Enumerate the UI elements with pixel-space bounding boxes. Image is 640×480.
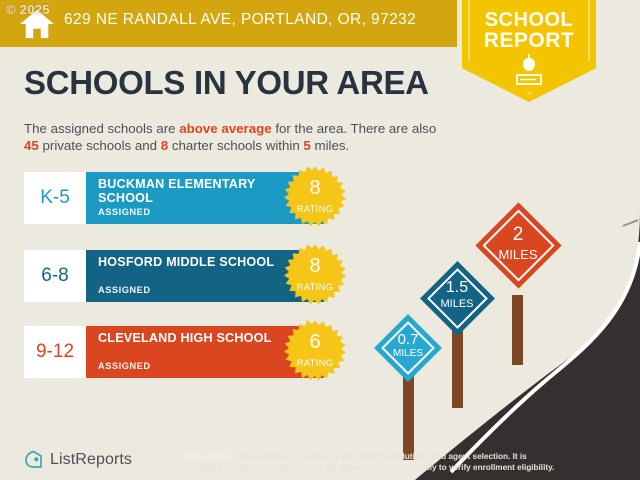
copyright-watermark: © 2025: [6, 2, 50, 17]
subtitle-part-2: for the area. There are also: [272, 121, 437, 136]
listreports-house-tag-icon: [24, 450, 43, 469]
sign-unit-1-5-miles: MILES: [419, 298, 495, 310]
disclaimer: DISCLAIMER School data is provided by AT…: [182, 452, 560, 473]
subtitle-highlight-radius: 5: [303, 138, 310, 153]
school-report-badge: SCHOOL REPORT: [462, 0, 596, 102]
sign-0-7-miles: 0.7 MILES: [373, 313, 443, 383]
grade-badge: K-5: [24, 172, 86, 224]
sign-distance-2-miles: 2: [475, 224, 561, 246]
sign-post-1-5-miles: [452, 328, 463, 408]
subtitle-highlight-rating: above average: [179, 121, 271, 136]
grade-badge: 6-8: [24, 250, 86, 302]
school-row[interactable]: 9-12 CLEVELAND HIGH SCHOOL ASSIGNED 6 RA…: [24, 326, 324, 378]
rating-label: RATING: [282, 204, 348, 214]
rating-value: 8: [282, 177, 348, 200]
school-status: ASSIGNED: [98, 361, 151, 371]
apple-on-book-icon: [511, 53, 547, 87]
school-row[interactable]: 6-8 HOSFORD MIDDLE SCHOOL ASSIGNED 8 RAT…: [24, 250, 324, 302]
infographic-canvas: 2 MILES 1.5 MILES 0.7 MILES 629 NE RANDA…: [0, 0, 640, 480]
school-status: ASSIGNED: [98, 285, 151, 295]
rating-value: 6: [282, 331, 348, 354]
subtitle-part-3: private schools and: [39, 138, 161, 153]
school-status: ASSIGNED: [98, 207, 151, 217]
rating-label: RATING: [282, 358, 348, 368]
page-title: SCHOOLS IN YOUR AREA: [24, 64, 429, 102]
logo-text: ListReports: [50, 451, 132, 469]
subtitle-part-4: charter schools within: [168, 138, 303, 153]
disclaimer-label: DISCLAIMER: [182, 452, 233, 461]
subtitle-part-1: The assigned schools are: [24, 121, 179, 136]
property-address: 629 NE RANDALL AVE, PORTLAND, OR, 97232: [64, 11, 416, 29]
subtitle-part-5: miles.: [311, 138, 349, 153]
sign-post-2-miles: [512, 295, 523, 365]
rating-label: RATING: [282, 282, 348, 292]
sign-distance-1-5-miles: 1.5: [419, 279, 495, 297]
sign-distance-0-7-miles: 0.7: [373, 331, 443, 348]
page-subtitle: The assigned schools are above average f…: [24, 120, 444, 154]
rating-value: 8: [282, 255, 348, 278]
badge-line-2: REPORT: [462, 29, 596, 53]
address-header-bar: 629 NE RANDALL AVE, PORTLAND, OR, 97232: [0, 0, 457, 47]
subtitle-highlight-private-count: 45: [24, 138, 39, 153]
school-name: HOSFORD MIDDLE SCHOOL: [98, 255, 278, 269]
sign-unit-0-7-miles: MILES: [373, 348, 443, 359]
school-name: CLEVELAND HIGH SCHOOL: [98, 331, 278, 345]
grade-badge: 9-12: [24, 326, 86, 378]
sign-post-0-7-miles: [403, 372, 414, 460]
school-name: BUCKMAN ELEMENTARY SCHOOL: [98, 177, 278, 205]
school-row[interactable]: K-5 BUCKMAN ELEMENTARY SCHOOL ASSIGNED 8…: [24, 172, 324, 224]
road-illustration: 2 MILES 1.5 MILES 0.7 MILES: [355, 150, 640, 480]
disclaimer-text: School data is provided by ATTOM Data So…: [182, 452, 554, 472]
listreports-logo[interactable]: ListReports: [24, 450, 132, 469]
